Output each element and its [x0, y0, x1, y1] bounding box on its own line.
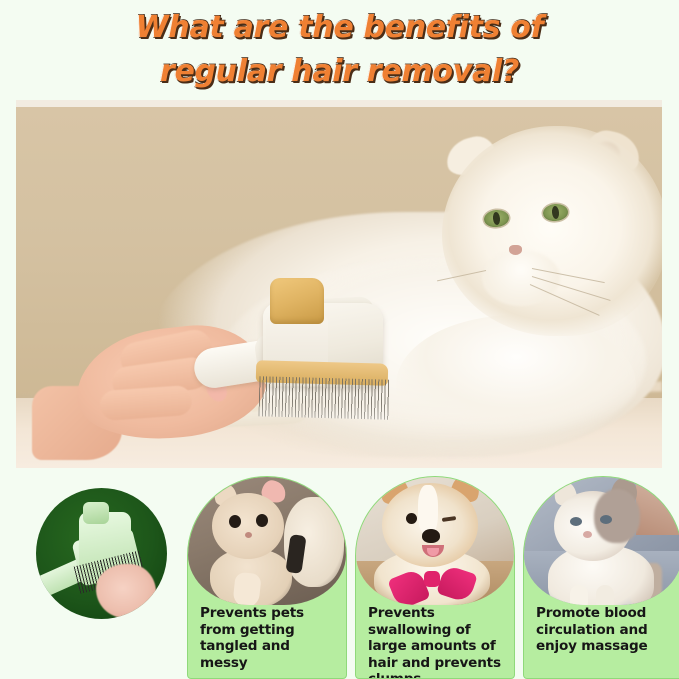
benefit-photo-pomeranian-dog	[356, 477, 514, 605]
hero-wall-top-strip	[16, 100, 662, 107]
benefit-photo-ragdoll-cat	[524, 477, 679, 605]
cat-leg-left	[570, 585, 588, 605]
cat-chest	[396, 315, 636, 455]
human-finger	[99, 385, 193, 421]
page-title-line-1: What are the benefits of	[0, 6, 679, 50]
cat-eye-right	[256, 514, 268, 527]
product-brush-button	[83, 502, 109, 524]
benefit-card-prevents-tangles[interactable]: Prevents pets from getting tangled and m…	[187, 476, 347, 679]
benefit-caption: Promote blood circulation and enjoy mass…	[536, 605, 674, 655]
photo-warm-background	[636, 477, 679, 535]
cat-muzzle	[482, 250, 560, 306]
benefit-card-prevents-swallowing[interactable]: Prevents swallowing of large amounts of …	[355, 476, 515, 679]
cat-head	[212, 493, 284, 559]
brush-release-button	[270, 278, 324, 324]
benefit-photo-cream-cat	[188, 477, 346, 605]
cat-pupil-right	[551, 206, 559, 220]
cat-eye-left	[570, 517, 582, 526]
cat-eye-right	[600, 515, 612, 524]
cat-pupil-left	[492, 212, 500, 226]
dog-eye-left	[406, 513, 417, 524]
collected-fur-clump	[96, 564, 156, 618]
benefit-panels: Prevents pets from getting tangled and m…	[0, 470, 679, 679]
cat-head	[442, 126, 662, 336]
cat-eye-left	[229, 515, 241, 528]
dog-face-blaze	[418, 485, 438, 535]
pink-bow-knot	[424, 571, 440, 587]
benefit-caption: Prevents swallowing of large amounts of …	[368, 605, 506, 679]
cat-paw	[232, 572, 261, 605]
dog-nose	[422, 529, 440, 543]
benefit-caption: Prevents pets from getting tangled and m…	[200, 605, 338, 671]
cat-nose	[509, 245, 522, 255]
hero-image-cat-grooming	[16, 100, 662, 468]
cat-nose	[583, 531, 592, 538]
page-title-line-2: regular hair removal?	[0, 50, 679, 94]
benefit-card-promote-circulation[interactable]: Promote blood circulation and enjoy mass…	[523, 476, 679, 679]
cat-nose	[245, 532, 252, 538]
product-demo-circle	[36, 488, 167, 619]
brush-comb-teeth	[258, 376, 389, 419]
cat-leg-right	[596, 585, 614, 605]
page-title: What are the benefits of regular hair re…	[0, 6, 679, 94]
